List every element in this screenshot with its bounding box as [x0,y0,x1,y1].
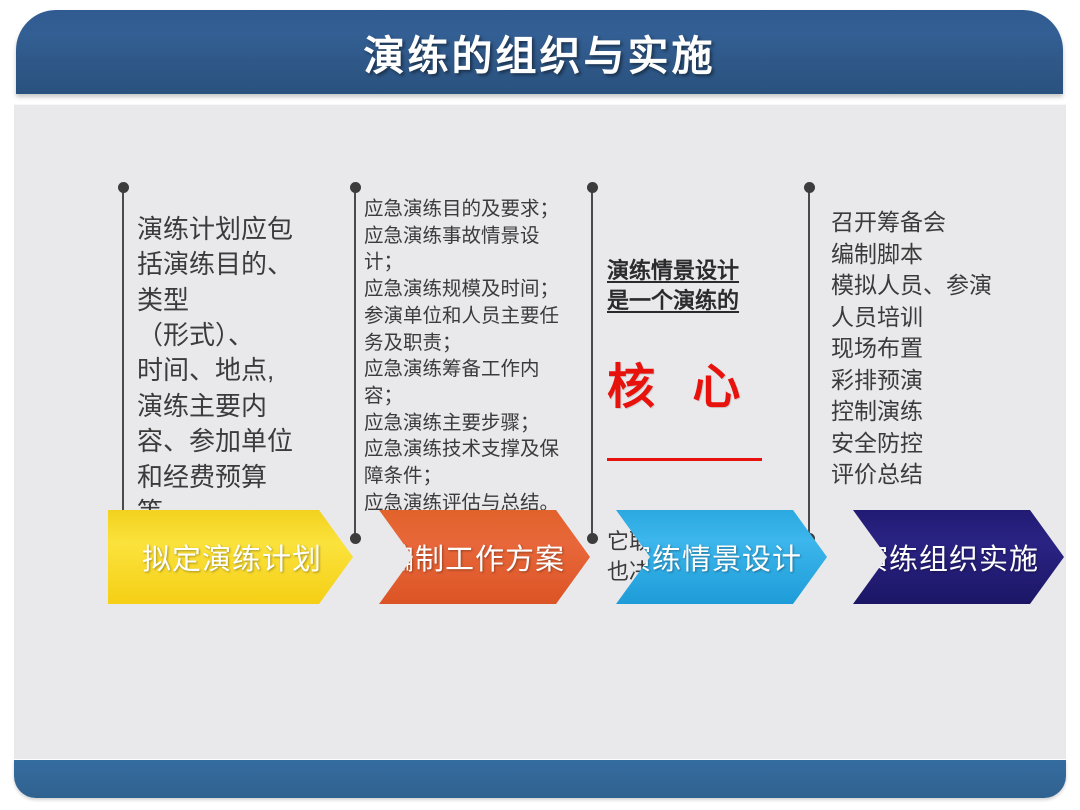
connector-dot-top-1 [118,182,129,193]
connector-dot-top-3 [587,182,598,193]
connector-line-3 [591,188,593,538]
process-step-2[interactable]: 编制工作方案 [345,510,590,604]
slide-title-banner: 演练的组织与实施 [16,10,1063,94]
process-step-1[interactable]: 拟定演练计划 [108,510,353,604]
column-text-2: 应急演练目的及要求； 应急演练事故情景设计； 应急演练规模及时间； 参演单位和人… [364,196,574,516]
process-step-3[interactable]: 演练情景设计 [582,510,827,604]
connector-dot-top-4 [804,182,815,193]
process-step-4-label: 演练组织实施 [859,536,1039,578]
connector-dot-top-2 [350,182,361,193]
column-text-1: 演练计划应包括演练目的、类型 （形式）、 时间、地点, 演练主要内容、参加单位和… [137,212,297,530]
column-3-heading: 演练情景设计 是一个演练的 [607,256,797,315]
connector-line-1 [122,188,124,538]
column-text-4: 召开筹备会 编制脚本 模拟人员、参演人员培训 现场布置 彩排预演 控制演练 安全… [831,207,1011,491]
process-step-3-label: 演练情景设计 [622,536,802,578]
process-step-2-label: 编制工作方案 [385,536,565,578]
column-3-core-underline [607,458,762,461]
process-chevron-row: 拟定演练计划 编制工作方案 演练情景设计 演练组织实施 [0,510,1080,610]
process-step-4[interactable]: 演练组织实施 [819,510,1064,604]
page-title: 演练的组织与实施 [364,22,716,82]
connector-line-2 [354,188,356,538]
slide-canvas: 演练的组织与实施 演练计划应包括演练目的、类型 （形式）、 时间、地点, 演练主… [0,0,1080,810]
process-step-1-label: 拟定演练计划 [142,536,322,578]
slide-footer-bar [14,760,1066,798]
connector-line-4 [808,188,810,538]
column-3-core-word: 核 心 [607,360,797,415]
